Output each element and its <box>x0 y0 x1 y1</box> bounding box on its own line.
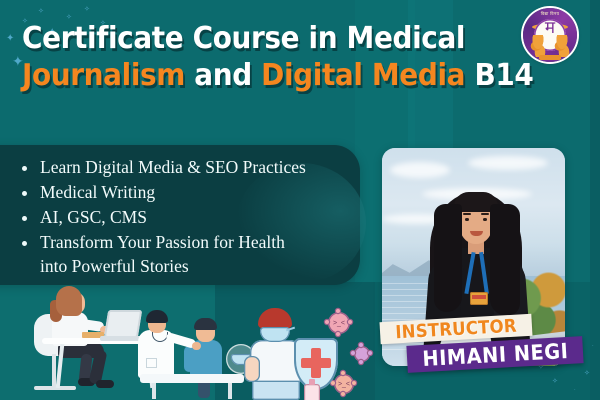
course-promo-poster: ✦ ✧ ✦ ✧ ✦ ✧ · ✧ · ✧ · ✦ ✧ ✧ · ✧ · Certif… <box>0 0 600 400</box>
patient-hair <box>194 318 217 330</box>
feature-text: AI, GSC, CMS <box>40 207 147 227</box>
virus-face: >_< <box>328 312 350 334</box>
doctor-coat-pocket <box>146 358 157 368</box>
sanitizer-bottle-icon <box>304 384 320 400</box>
boy-arm <box>244 356 260 382</box>
logo-bottom-banner <box>539 55 561 60</box>
doctor-hand <box>192 342 201 350</box>
portrait-id-badge <box>470 292 488 305</box>
sparkle-icon: ✧ <box>552 378 558 385</box>
features-panel: Learn Digital Media & SEO Practices Medi… <box>0 145 360 285</box>
list-item: Transform Your Passion for Healthinto Po… <box>22 231 346 278</box>
portrait-hair-front-left <box>434 204 462 312</box>
virus-icon: >_< <box>334 374 354 394</box>
sparkle-icon: ✦ <box>6 34 14 44</box>
logo-wreath-left-icon <box>528 35 548 57</box>
feature-text: Learn Digital Media & SEO Practices <box>40 157 306 177</box>
photo-cloud <box>468 156 548 170</box>
logo-wreath-right-icon <box>552 35 572 57</box>
portrait-eye-right <box>483 218 487 221</box>
title-highlight-digital-media: Digital Media <box>261 58 465 93</box>
boy-hair <box>258 308 292 328</box>
boy-trousers <box>252 380 300 400</box>
sparkle-icon: ✧ <box>584 370 590 377</box>
feature-text: Medical Writing <box>40 182 155 202</box>
title-line-2: Journalism and Digital Media B14 <box>22 57 450 94</box>
features-list: Learn Digital Media & SEO Practices Medi… <box>22 156 346 280</box>
illustration-boy-with-medical-shield: >_< >_< <box>228 300 378 400</box>
bench-leg-left <box>152 383 156 399</box>
red-cross-horizontal <box>301 358 331 368</box>
doctor-hair <box>146 310 168 323</box>
virus-face: >_< <box>334 374 354 394</box>
sparkle-icon: ✧ <box>84 6 90 13</box>
list-item: Learn Digital Media & SEO Practices <box>22 156 346 180</box>
institute-logo-icon: विद्या विनय म <box>523 8 577 62</box>
feature-text: Transform Your Passion for Health <box>40 232 285 252</box>
list-item: Medical Writing <box>22 181 346 205</box>
portrait-eye-left <box>465 218 469 221</box>
list-item: AI, GSC, CMS <box>22 206 346 230</box>
title-conjunction: and <box>185 58 261 93</box>
portrait-hair-front-right <box>490 204 520 316</box>
woman-hair <box>56 286 82 316</box>
portrait-eyebrow-right <box>481 213 489 215</box>
title-line-1: Certificate Course in Medical <box>22 20 450 57</box>
title-batch-code: B14 <box>465 58 533 93</box>
background-right-edge-strip <box>590 0 600 400</box>
portrait-eyebrow-left <box>463 213 471 215</box>
sparkle-icon: ✧ <box>38 8 44 15</box>
illustration-doctor-examining-patient <box>122 296 242 400</box>
feature-text-line2: into Powerful Stories <box>40 255 346 279</box>
sparkle-dot-icon: · <box>574 388 576 393</box>
poster-title-block: Certificate Course in Medical Journalism… <box>22 20 482 94</box>
photo-cloud <box>390 162 450 178</box>
virus-icon: >_< <box>328 312 350 334</box>
virus-icon <box>354 346 370 362</box>
sparkle-dot-icon: · <box>592 344 594 349</box>
title-highlight-journalism: Journalism <box>22 58 185 93</box>
woman-shoe-front <box>96 380 114 388</box>
